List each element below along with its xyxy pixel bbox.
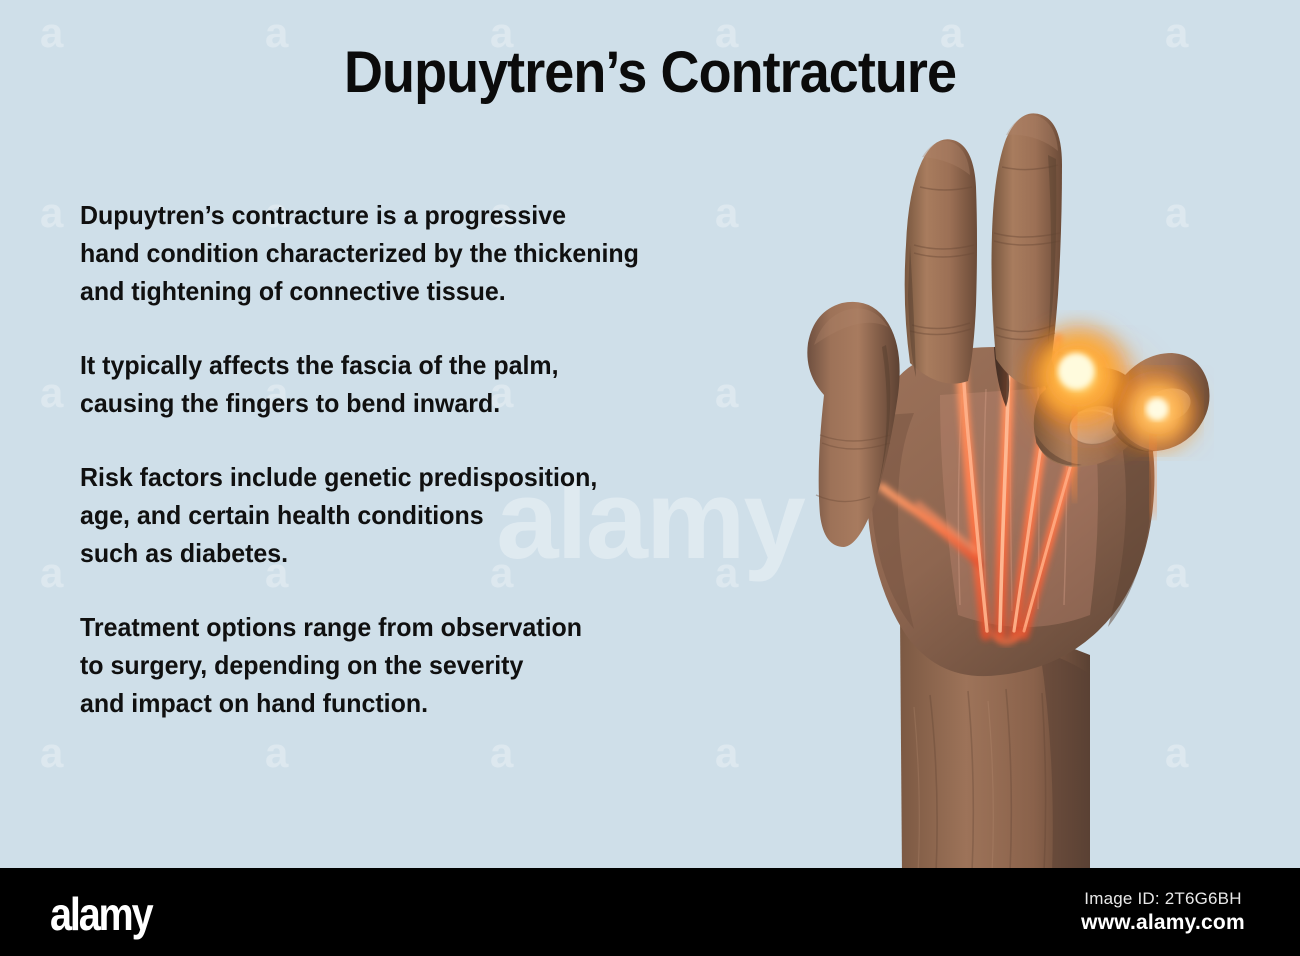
page-title-text: Dupuytren’s Contracture bbox=[344, 44, 956, 102]
footer-meta: Image ID: 2T6G6BH www.alamy.com bbox=[1048, 888, 1278, 936]
paragraph-definition: Dupuytren’s contracture is a progressive… bbox=[80, 196, 838, 310]
image-id-label: Image ID: 2T6G6BH bbox=[1048, 888, 1278, 910]
paragraph-risk-factors: Risk factors include genetic predisposit… bbox=[80, 458, 838, 572]
page-title: Dupuytren’s Contracture bbox=[0, 44, 1300, 102]
secondary-nodule bbox=[1120, 373, 1196, 449]
info-text-block: Dupuytren’s contracture is a progressive… bbox=[80, 196, 870, 722]
alamy-logo: alamy bbox=[50, 891, 151, 937]
alamy-footer-bar: alamy Image ID: 2T6G6BH www.alamy.com bbox=[0, 868, 1300, 956]
paragraph-affected-area: It typically affects the fascia of the p… bbox=[80, 346, 838, 422]
index-finger bbox=[905, 139, 977, 383]
alamy-url-label: www.alamy.com bbox=[1048, 910, 1278, 936]
primary-nodule bbox=[1024, 321, 1132, 429]
screenshot-root: aaaaaaaaaaaaaaaaaaaaaaaaaaaaaa alamy bbox=[0, 0, 1300, 956]
paragraph-treatment: Treatment options range from observation… bbox=[80, 608, 838, 722]
